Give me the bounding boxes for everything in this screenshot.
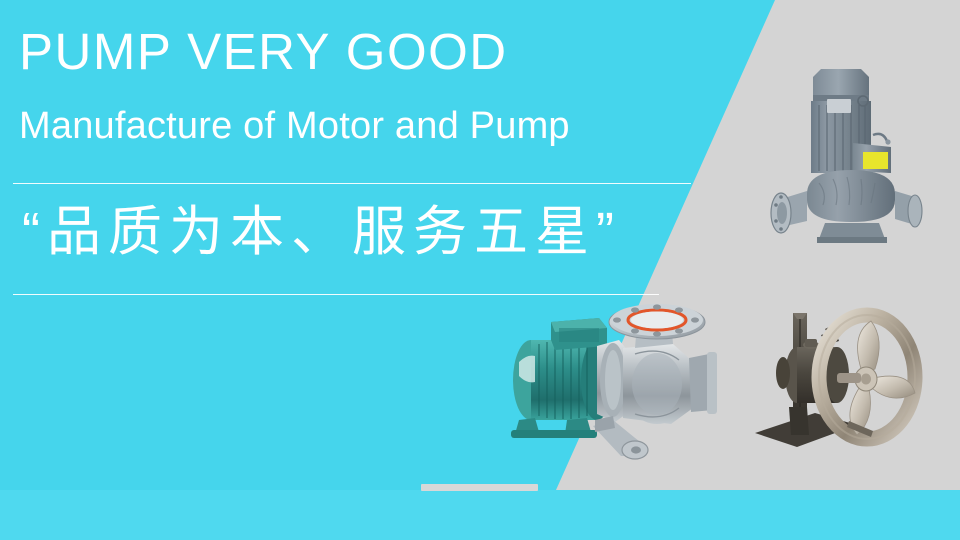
banner-subtitle: Manufacture of Motor and Pump <box>19 107 570 145</box>
vertical-inline-pump-icon <box>755 55 930 255</box>
bottom-cyan-band <box>0 490 960 540</box>
horizontal-centrifugal-pump-icon <box>495 300 730 465</box>
banner-slogan: “品质为本、服务五星” <box>22 203 621 262</box>
carousel-slider-indicator[interactable] <box>421 484 538 491</box>
submersible-mixer-icon <box>745 295 940 455</box>
promo-banner: PUMP VERY GOOD Manufacture of Motor and … <box>0 0 960 540</box>
divider-line-top <box>13 183 691 184</box>
product-image-submersible-mixer <box>745 295 940 455</box>
product-image-vertical-inline-pump <box>755 55 930 255</box>
banner-title: PUMP VERY GOOD <box>19 26 508 77</box>
divider-line-bottom <box>13 294 659 295</box>
product-image-horizontal-centrifugal-pump <box>495 300 730 465</box>
